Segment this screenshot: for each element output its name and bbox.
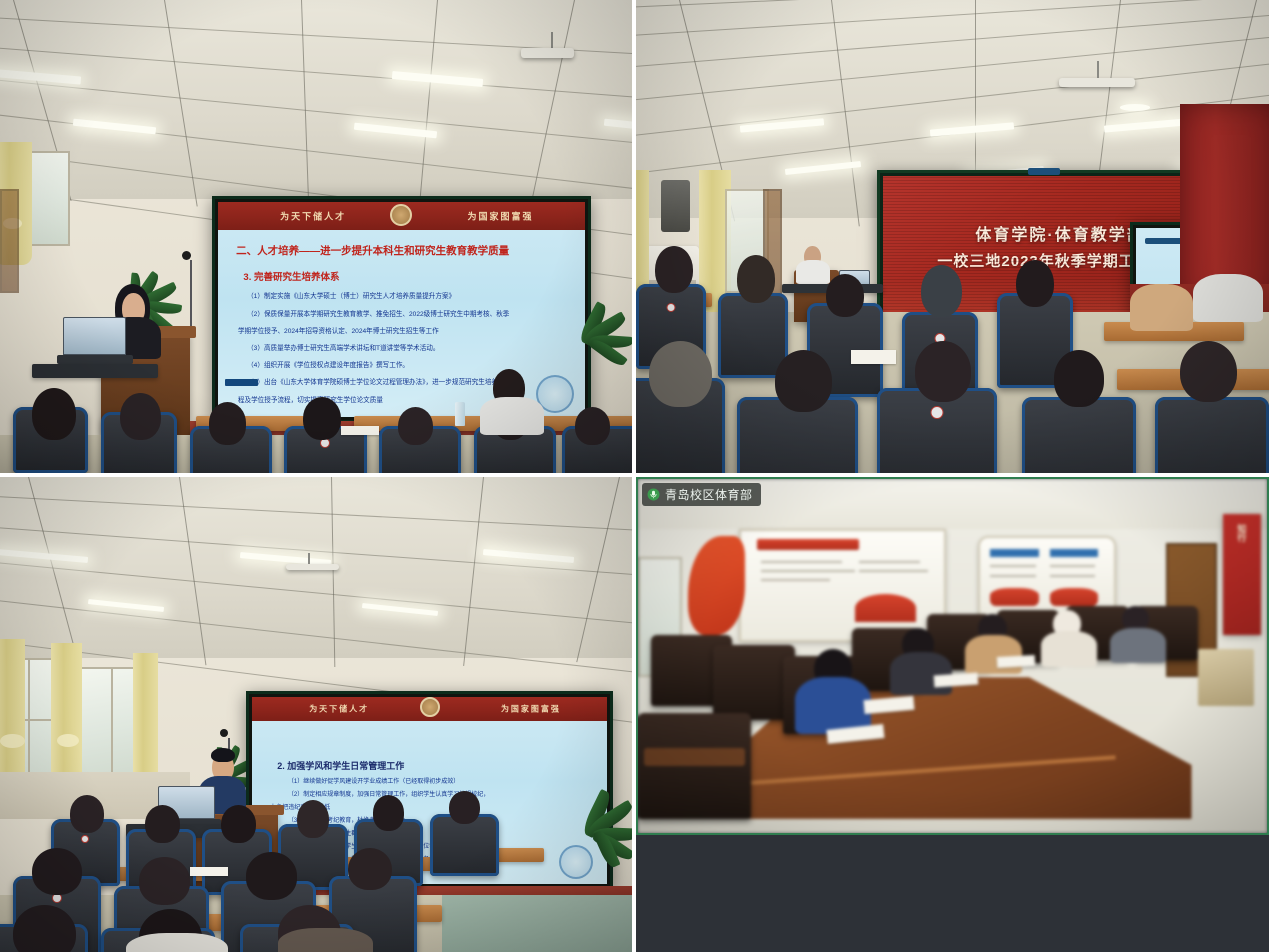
screen-toolbar-pill bbox=[1028, 168, 1060, 176]
slide-heading: 二、人才培养——进一步提升本科生和研究生教育教学质量 bbox=[236, 243, 509, 258]
stage-curtain bbox=[1180, 104, 1269, 303]
participant-name-label: 青岛校区体育部 bbox=[642, 483, 761, 506]
slide-bullet: （5）出台《山东大学体育学院硕博士学位论文过程管理办法》，进一步规范研究生培养流 bbox=[247, 376, 505, 386]
projection-screen: 为天下储人才 为国家图富强 二、人才培养——进一步提升本科生和研究生教育教学质量… bbox=[212, 196, 591, 423]
slide-banner: 为天下储人才 为国家图富强 bbox=[252, 697, 607, 721]
banner-left-text: 为天下储人才 bbox=[309, 703, 369, 714]
water-bottle bbox=[455, 402, 465, 426]
camera-icon bbox=[220, 729, 228, 737]
slide-bullet: （1）制定实施《山东大学硕士（博士）研究生人才培养质量提升方案》 bbox=[247, 290, 455, 300]
ceiling bbox=[0, 477, 632, 658]
wall-speaker bbox=[661, 180, 689, 232]
participant-name-text: 青岛校区体育部 bbox=[665, 486, 753, 503]
slide-subheading: 3. 完善研究生培养体系 bbox=[243, 269, 339, 283]
slide-progress-marker bbox=[225, 379, 258, 387]
slide-bullet: （4）组织开展《学位授权点建设年度报告》撰写工作。 bbox=[247, 359, 409, 369]
university-seal-icon bbox=[390, 204, 412, 226]
ceiling bbox=[0, 0, 632, 199]
slide-bullet: 学期学位授予、2024年招导资格认定、2024年博士研究生招生等工作 bbox=[238, 325, 439, 335]
vertical-banner: 知行 bbox=[1223, 514, 1261, 634]
panel-bottom-right: 知行 bbox=[636, 477, 1269, 952]
camera-icon bbox=[182, 251, 191, 260]
banner-left-text: 为天下储人才 bbox=[280, 210, 346, 223]
banner-right-text: 为国家图富强 bbox=[501, 703, 561, 714]
slide-bullet: （1）继续做好促学风建设开学业成绩工作（已经取得初步成效） bbox=[288, 776, 459, 785]
remote-participant-body bbox=[795, 677, 870, 734]
panel-top-left: 为天下储人才 为国家图富强 二、人才培养——进一步提升本科生和研究生教育教学质量… bbox=[0, 0, 632, 473]
photo-collage: 为天下储人才 为国家图富强 二、人才培养——进一步提升本科生和研究生教育教学质量… bbox=[0, 0, 1269, 952]
slide-heading: 2. 加强学风和学生日常管理工作 bbox=[277, 759, 404, 772]
remote-video-tile[interactable]: 知行 bbox=[636, 477, 1269, 835]
slide-bullet: （2）保质保量开展本学期研究生教育教学、推免招生、2022级博士研究生中期考核、… bbox=[247, 308, 509, 318]
banner-right-text: 为国家图富强 bbox=[467, 210, 533, 223]
university-seal-icon bbox=[420, 697, 440, 717]
panel-bottom-left: 为天下储人才 为国家图富强 2. 加强学风和学生日常管理工作 （1）继续做好促学… bbox=[0, 477, 632, 952]
panel-top-right: 山东大学 体育学院·体育教学部 一校三地2023年秋季学期工作会议 bbox=[636, 0, 1269, 473]
slide-bullet: （3）高质量举办博士研究生高端学术讲坛和T道讲堂等学术活动。 bbox=[247, 342, 439, 352]
video-call-stage: 知行 bbox=[636, 477, 1269, 952]
slide-banner: 为天下储人才 为国家图富强 bbox=[218, 202, 585, 230]
wall-poster-main bbox=[739, 529, 947, 642]
slide-content: 为天下储人才 为国家图富强 二、人才培养——进一步提升本科生和研究生教育教学质量… bbox=[218, 202, 585, 417]
ceiling-projector bbox=[521, 48, 574, 58]
microphone-icon bbox=[647, 488, 660, 501]
